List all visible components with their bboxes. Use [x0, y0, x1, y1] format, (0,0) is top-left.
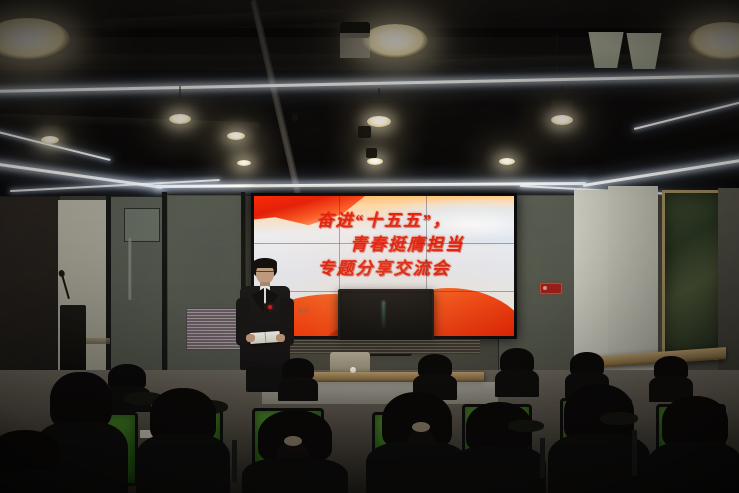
chair-leg: [632, 430, 637, 476]
window-mullion: [106, 194, 111, 388]
ceiling-speaker: [358, 126, 371, 138]
vertical-pipe: [128, 238, 132, 300]
spotlight-pendant: [236, 154, 252, 180]
attendee: [382, 392, 452, 493]
presenter-lapel-pin: [268, 305, 272, 309]
presenter-fringe: [253, 258, 277, 268]
ceiling-speaker: [366, 148, 377, 158]
attendee: [150, 388, 216, 493]
spotlight-pendant: [40, 126, 60, 160]
spotlight-pendant: [226, 122, 246, 156]
window-mullion: [162, 192, 167, 388]
presenter-hand-right: [276, 334, 285, 342]
ceiling-flood-light: [362, 24, 428, 58]
glass-partition-left: [0, 196, 60, 384]
ceiling-led-strip: [583, 157, 739, 187]
presentation-room-photo: 奋进“十五五”， 青春挺膺担当 专题分享交流会 创新: [0, 0, 739, 493]
ceiling-led-strip: [634, 99, 739, 129]
ceiling-sensor: [292, 114, 298, 121]
panel-seam: [254, 243, 514, 244]
desk-cup: [350, 367, 356, 373]
glass-inner-panel: [124, 208, 160, 242]
emergency-exit-sign[interactable]: [540, 283, 562, 294]
attendee: [258, 410, 332, 493]
chair-leg: [232, 440, 237, 482]
spotlight-pendant: [550, 86, 574, 132]
black-monitor: [338, 289, 434, 347]
presenter-glasses: [256, 271, 274, 275]
presenter-hand-left: [246, 334, 255, 342]
attendee: [654, 356, 688, 400]
attendee: [500, 348, 534, 394]
attendee: [282, 358, 314, 400]
spotlight-pendant: [498, 152, 516, 180]
attendee: [662, 396, 728, 493]
spotlight-pendant: [168, 86, 192, 130]
slide-title-line-1: 奋进“十五五”，: [254, 209, 514, 233]
chair-leg: [540, 438, 545, 478]
loudspeaker-cabinet: [60, 305, 86, 377]
ceiling: [0, 0, 739, 200]
attendee: [564, 384, 634, 493]
attendee: [0, 430, 60, 493]
wooden-ledge: [86, 338, 110, 344]
slide-subtext: 创新: [298, 307, 310, 314]
slide-title-line-2: 青春挺膺担当: [254, 233, 514, 257]
ceiling-access-panel: [340, 33, 370, 58]
framed-landscape-painting: [662, 190, 726, 360]
chair-writing-tablet: [508, 420, 544, 432]
chair-writing-tablet: [600, 412, 638, 425]
attendee: [466, 402, 532, 493]
